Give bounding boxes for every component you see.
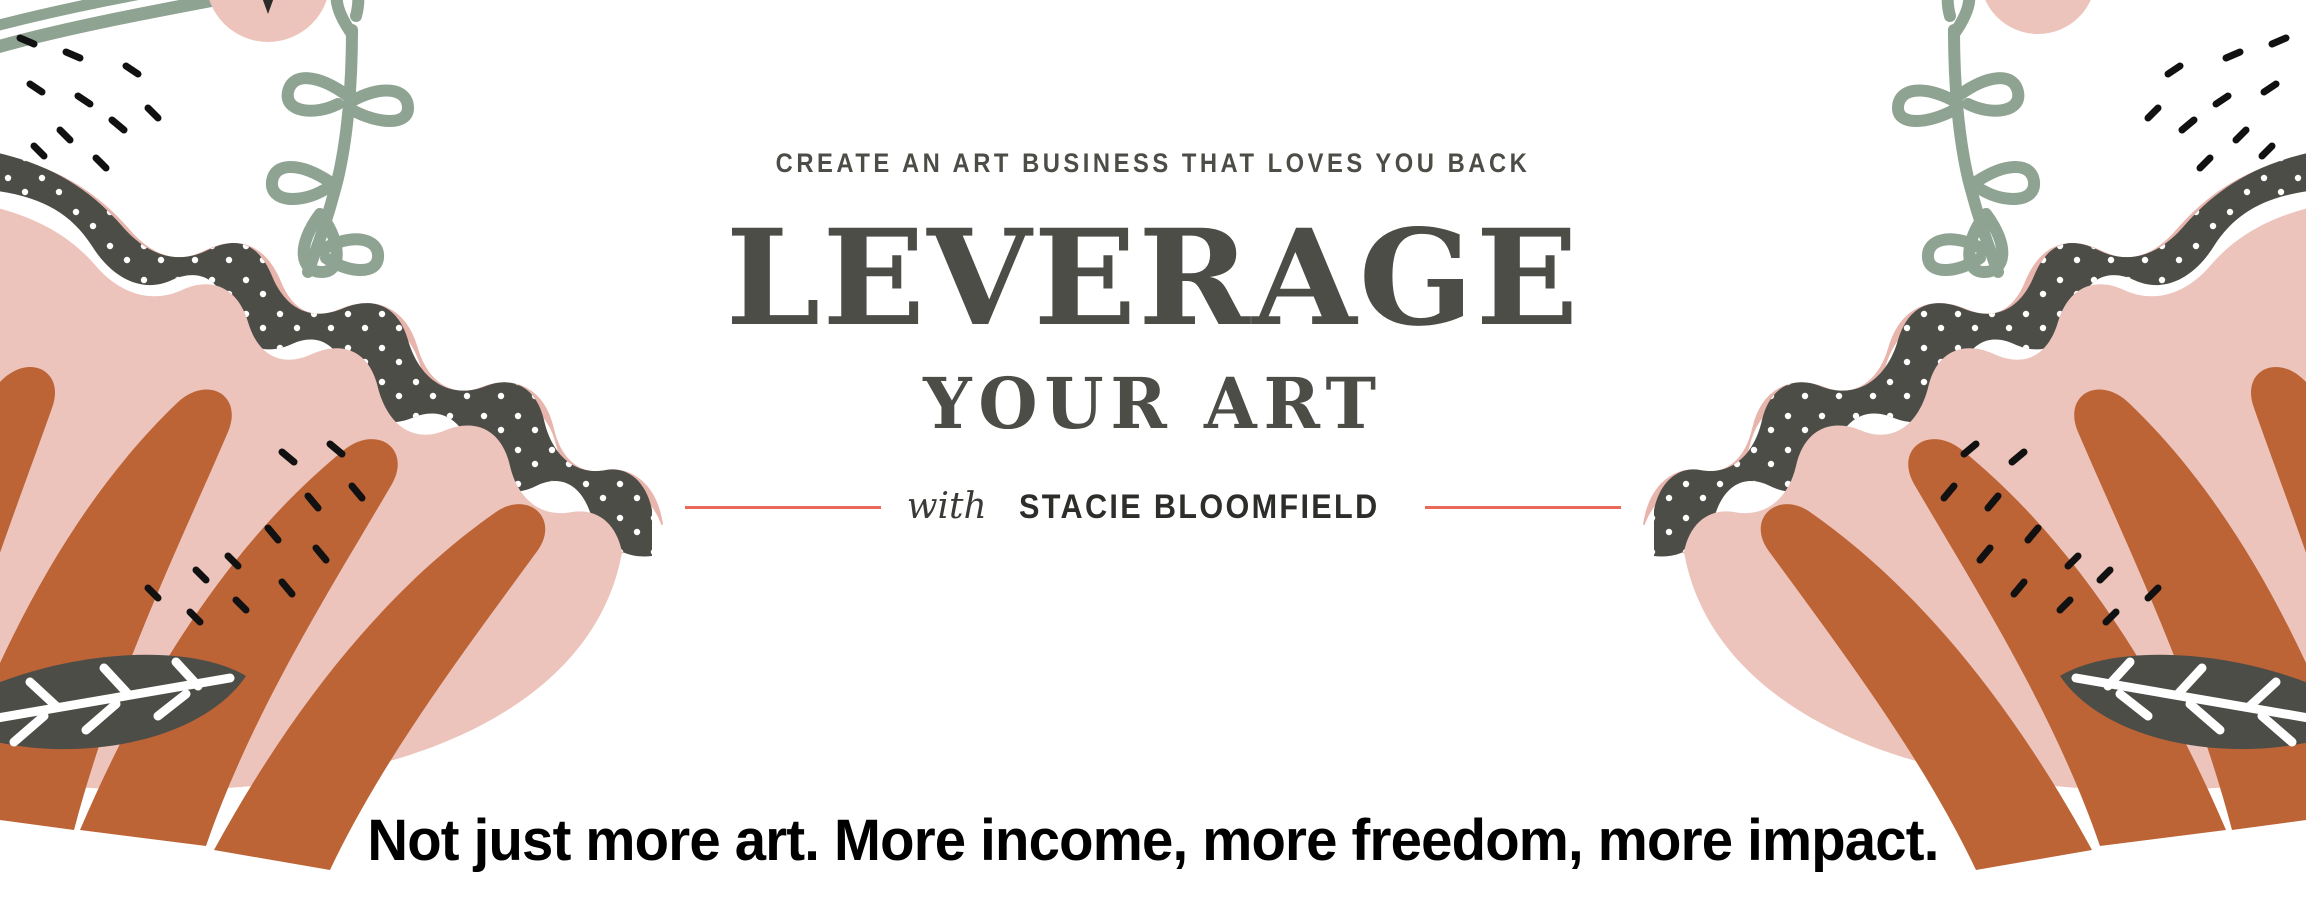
sprig-left — [272, 0, 408, 272]
speckle-dashes-right-mid — [1944, 444, 2158, 622]
attribution-rule-left — [685, 506, 881, 509]
sprig-right — [1898, 0, 2034, 272]
flower-right-body — [1684, 191, 2306, 790]
leaf-left — [0, 655, 246, 749]
flower-left-rays — [0, 365, 545, 870]
page-headline: Not just more art. More income, more fre… — [183, 812, 2123, 870]
flower-right-rays — [1761, 365, 2306, 870]
flower-left-body — [0, 191, 622, 790]
logo-title-sub: YOUR ART — [571, 369, 1735, 439]
speckle-dashes-left-top — [20, 38, 158, 168]
speckle-dashes-right-top — [2148, 38, 2286, 168]
stem-arc-left — [0, 0, 300, 52]
leaf-right — [2060, 655, 2306, 749]
attribution-row: withSTACIE BLOOMFIELD — [553, 489, 1753, 525]
attribution-with: with — [907, 486, 987, 527]
berry-circle-left — [206, 0, 330, 42]
sparkle-star-left — [238, 0, 300, 14]
attribution-name: STACIE BLOOMFIELD — [1019, 490, 1380, 524]
berry-circle-right — [1980, 0, 2096, 34]
stem-arc-left-2 — [0, 0, 250, 30]
logo-tagline: CREATE AN ART BUSINESS THAT LOVES YOU BA… — [625, 150, 1681, 177]
speckle-dashes-left-mid — [148, 444, 362, 622]
attribution-rule-right — [1425, 506, 1621, 509]
logo-title-main: LEVERAGE — [541, 213, 1765, 345]
logo-lockup: CREATE AN ART BUSINESS THAT LOVES YOU BA… — [553, 150, 1753, 525]
attribution-text: withSTACIE BLOOMFIELD — [907, 489, 1400, 525]
hero-banner: CREATE AN ART BUSINESS THAT LOVES YOU BA… — [0, 0, 2306, 918]
